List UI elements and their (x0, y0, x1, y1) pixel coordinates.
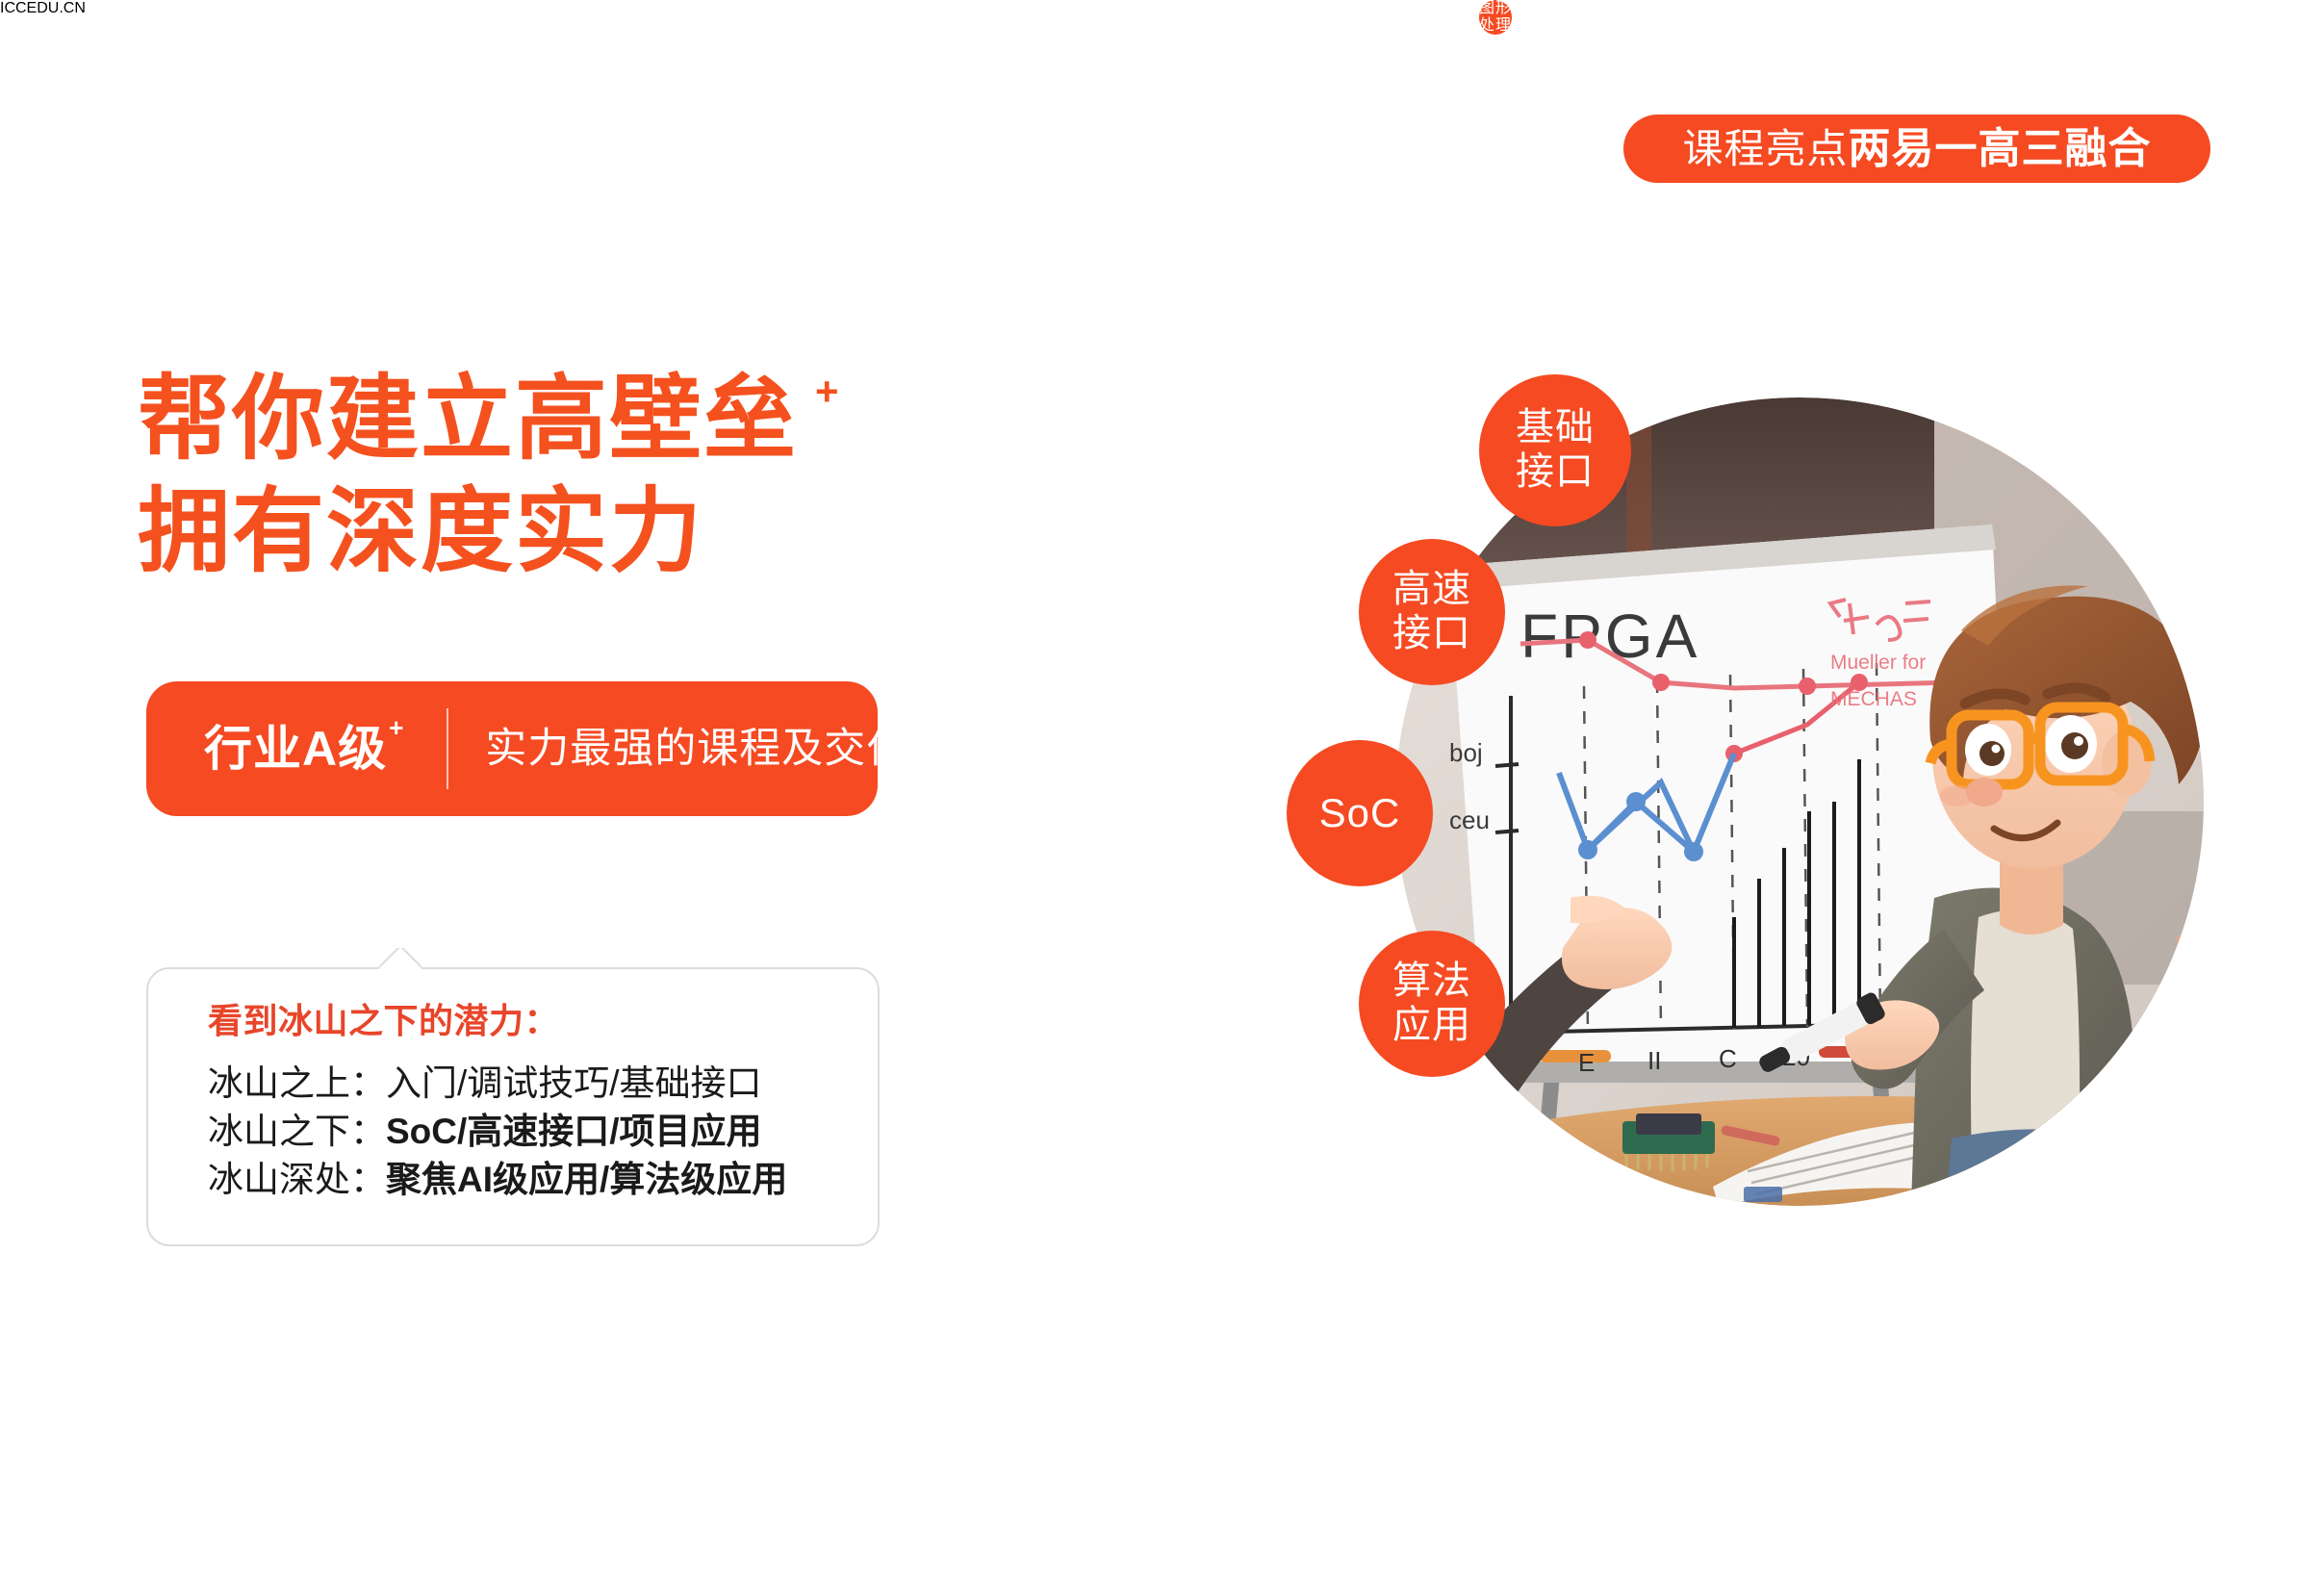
industry-grade-label: 行业A级+ (204, 725, 404, 773)
callout-row-deep-value: 聚焦AI级应用/算法级应用 (386, 1160, 787, 1199)
svg-text:boj: boj (1449, 738, 1483, 767)
pill-divider (447, 708, 448, 789)
industry-grade-description: 实力最强的课程及交付 (485, 729, 908, 770)
callout-row-deep: 冰山深处：聚焦AI级应用/算法级应用 (208, 1156, 878, 1204)
tag-bubble-algorithm-application[interactable]: 算法 应用 (1359, 931, 1505, 1077)
whiteboard-title: FPGA (1520, 602, 1699, 671)
industry-grade-superscript: + (389, 713, 404, 742)
course-highlight-emphasis: 两易一高三融合 (1849, 128, 2152, 170)
svg-text:MECHAS: MECHAS (1830, 688, 1917, 710)
tag-basic-interface-line-1: 基础 (1516, 406, 1595, 450)
brand-logo[interactable]: ICCEDU.CN (0, 0, 2324, 17)
callout-row-above-label: 冰山之上： (208, 1063, 386, 1103)
headline-line-2: 拥有深度实力 (138, 475, 1004, 588)
page-title: 帮你建立高壁垒+ 拥有深度实力 (138, 363, 1004, 588)
tag-high-speed-interface-line-1: 高速 (1392, 568, 1471, 612)
tag-bubble-high-speed-interface[interactable]: 高速 接口 (1359, 539, 1505, 685)
callout-row-below: 冰山之下：SoC/高速接口/项目应用 (208, 1108, 878, 1156)
callout-pointer-notch (379, 948, 421, 971)
callout-row-below-value: SoC/高速接口/项目应用 (386, 1112, 762, 1151)
svg-text:E: E (1578, 1048, 1595, 1077)
callout-row-deep-label: 冰山深处： (208, 1160, 386, 1199)
callout-row-above: 冰山之上：入门/调试技巧/基础接口 (208, 1060, 878, 1108)
tag-algorithm-application-line-2: 应用 (1392, 1004, 1471, 1048)
callout-row-below-label: 冰山之下： (208, 1112, 386, 1151)
callout-title: 看到冰山之下的潜力： (208, 1002, 878, 1040)
headline-plus-superscript: + (815, 369, 841, 414)
headline-line-1: 帮你建立高壁垒+ (138, 363, 1004, 475)
brand-logo-tld: CN (64, 0, 86, 16)
instructor-photo-illustration: FPGA boj ceu (1395, 397, 2204, 1206)
slide-canvas: 课程亮点两易一高三融合 帮你建立高壁垒+ 拥有深度实力 行业A级+ 实力最强的课… (0, 0, 2324, 1587)
tag-graphics-processing-line-1: 图形 (1479, 0, 1512, 17)
tag-algorithm-application-line-1: 算法 (1392, 960, 1471, 1004)
callout-row-above-value: 入门/调试技巧/基础接口 (386, 1063, 762, 1103)
tag-bubble-graphics-processing[interactable]: 图形 处理 (1479, 0, 1512, 35)
iceberg-callout-card: 看到冰山之下的潜力： 冰山之上：入门/调试技巧/基础接口 冰山之下：SoC/高速… (146, 967, 880, 1246)
headline-line-1-text: 帮你建立高壁垒 (138, 368, 798, 471)
course-highlight-prefix: 课程亮点 (1682, 129, 1848, 169)
tag-bubble-basic-interface[interactable]: 基础 接口 (1479, 374, 1631, 526)
tag-basic-interface-line-2: 接口 (1516, 450, 1595, 495)
svg-text:C: C (1719, 1044, 1737, 1073)
svg-text:Mueller for: Mueller for (1830, 652, 1926, 674)
tag-graphics-processing-line-2: 处理 (1479, 17, 1512, 35)
industry-grade-pill[interactable]: 行业A级+ 实力最强的课程及交付 (146, 681, 878, 816)
instructor-photo: FPGA boj ceu (1395, 397, 2204, 1206)
industry-grade-text: 行业A级 (204, 722, 387, 776)
tag-soc-line-1: SoC (1319, 790, 1401, 836)
svg-text:ceu: ceu (1449, 806, 1490, 834)
tag-bubble-soc[interactable]: SoC (1287, 740, 1433, 886)
course-highlight-badge[interactable]: 课程亮点两易一高三融合 (1623, 115, 2210, 183)
brand-logo-main: ICCEDU (0, 0, 59, 16)
svg-text:II: II (1647, 1046, 1661, 1075)
tag-high-speed-interface-line-2: 接口 (1392, 612, 1471, 656)
